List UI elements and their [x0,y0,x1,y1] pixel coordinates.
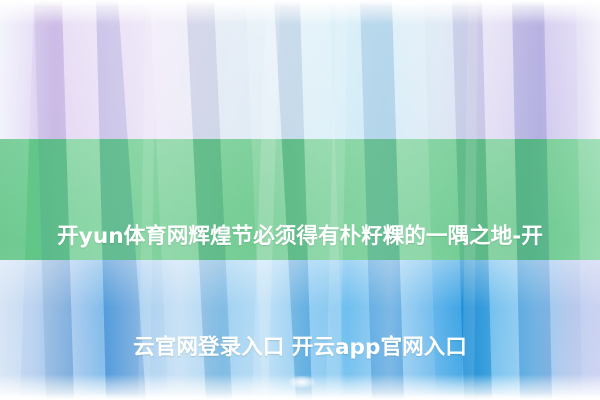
headline-line-2: 云官网登录入口 开云app官网入口 [0,329,600,366]
headline-line-1: 开yun体育网辉煌节必须得有朴籽粿的一隅之地-开 [0,218,600,255]
decorative-banner: 开yun体育网辉煌节必须得有朴籽粿的一隅之地-开 云官网登录入口 开云app官网… [0,0,600,400]
background-band-top [0,0,600,139]
headline-text: 开yun体育网辉煌节必须得有朴籽粿的一隅之地-开 云官网登录入口 开云app官网… [0,144,600,400]
